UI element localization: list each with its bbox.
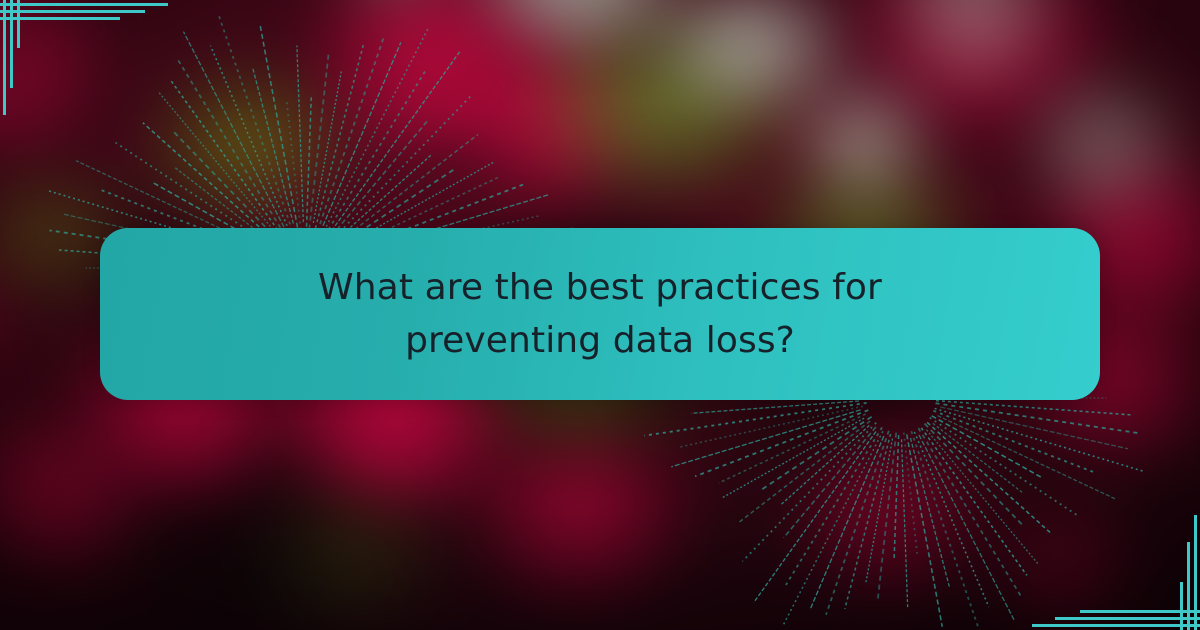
question-text: What are the best practices for preventi…: [220, 261, 980, 368]
social-share-card: What are the best practices for preventi…: [0, 0, 1200, 630]
question-card: What are the best practices for preventi…: [100, 228, 1100, 400]
